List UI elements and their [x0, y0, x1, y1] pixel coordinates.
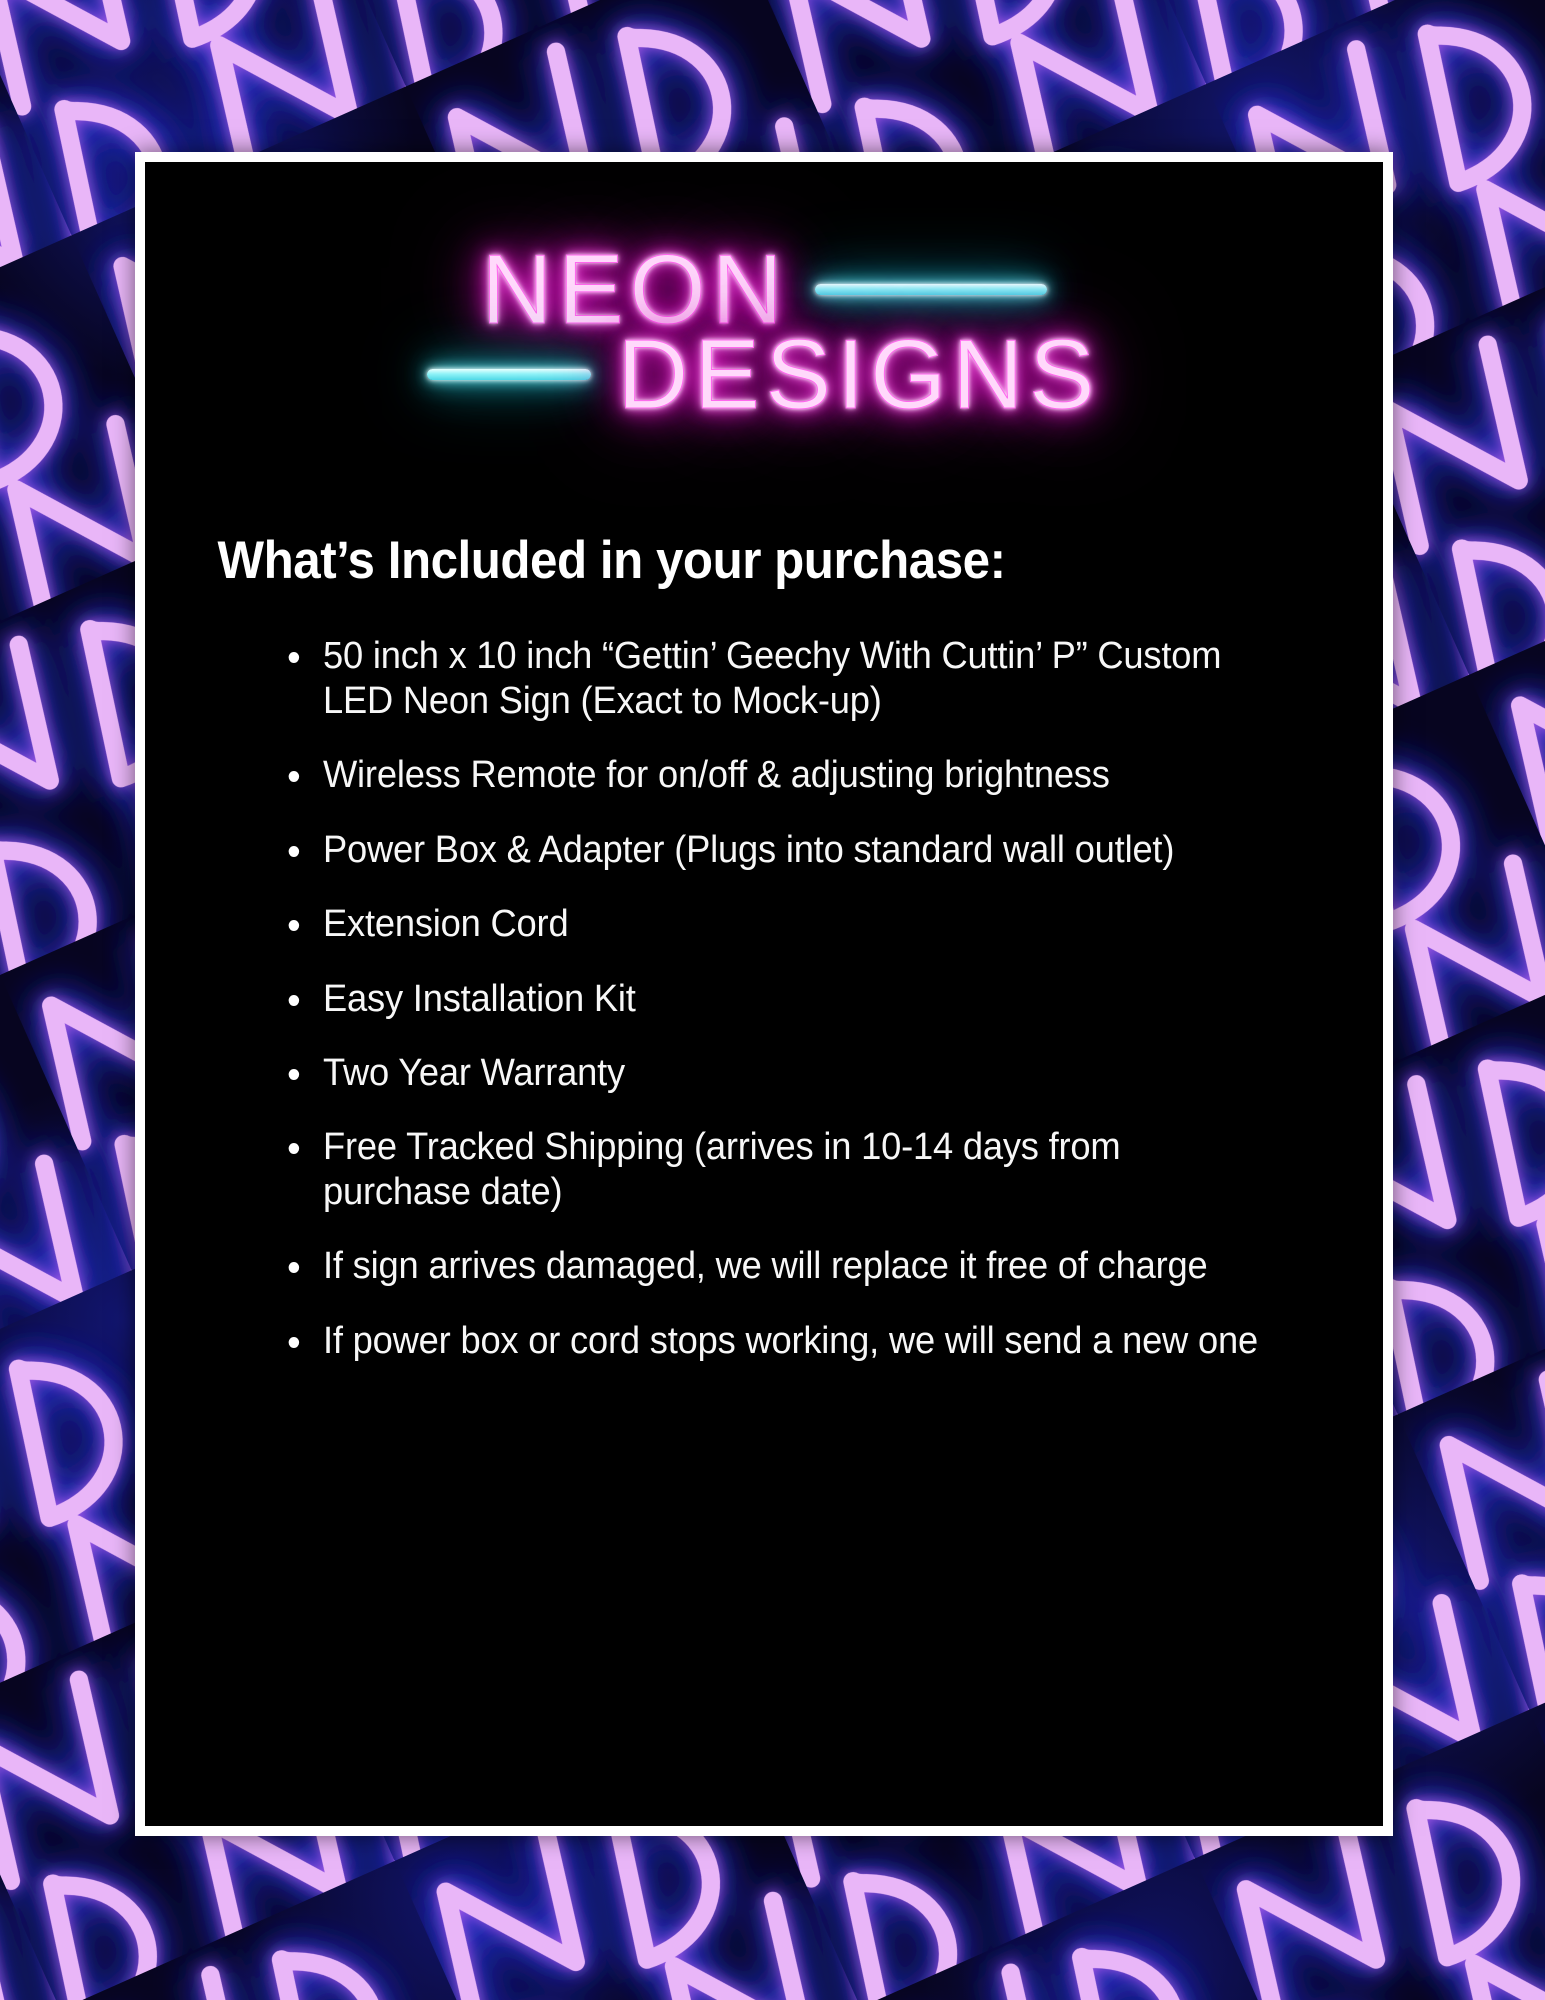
included-items-list: 50 inch x 10 inch “Gettin’ Geechy With C…: [185, 634, 1343, 1363]
product-info-graphic: NEON DESIGNS What’s Included in your pur…: [0, 0, 1545, 2000]
list-item: 50 inch x 10 inch “Gettin’ Geechy With C…: [323, 634, 1268, 723]
list-item: Wireless Remote for on/off & adjusting b…: [323, 753, 1268, 797]
content-card-frame: NEON DESIGNS What’s Included in your pur…: [135, 152, 1393, 1836]
list-item: Free Tracked Shipping (arrives in 10-14 …: [323, 1125, 1268, 1214]
list-item: Two Year Warranty: [323, 1051, 1268, 1095]
list-item: Extension Cord: [323, 902, 1268, 946]
logo-line-2: DESIGNS: [185, 323, 1343, 426]
list-item: Easy Installation Kit: [323, 977, 1268, 1021]
cyan-dash-long-icon: [815, 284, 1047, 295]
list-item: If sign arrives damaged, we will replace…: [323, 1244, 1268, 1288]
logo-word-designs: DESIGNS: [617, 323, 1100, 426]
page-title: What’s Included in your purchase:: [185, 532, 1262, 590]
cyan-dash-short-icon: [427, 369, 591, 380]
list-item: Power Box & Adapter (Plugs into standard…: [323, 828, 1268, 872]
content-card-surface: NEON DESIGNS What’s Included in your pur…: [145, 162, 1383, 1826]
list-item: If power box or cord stops working, we w…: [323, 1319, 1268, 1363]
neon-designs-logo: NEON DESIGNS: [185, 238, 1343, 458]
